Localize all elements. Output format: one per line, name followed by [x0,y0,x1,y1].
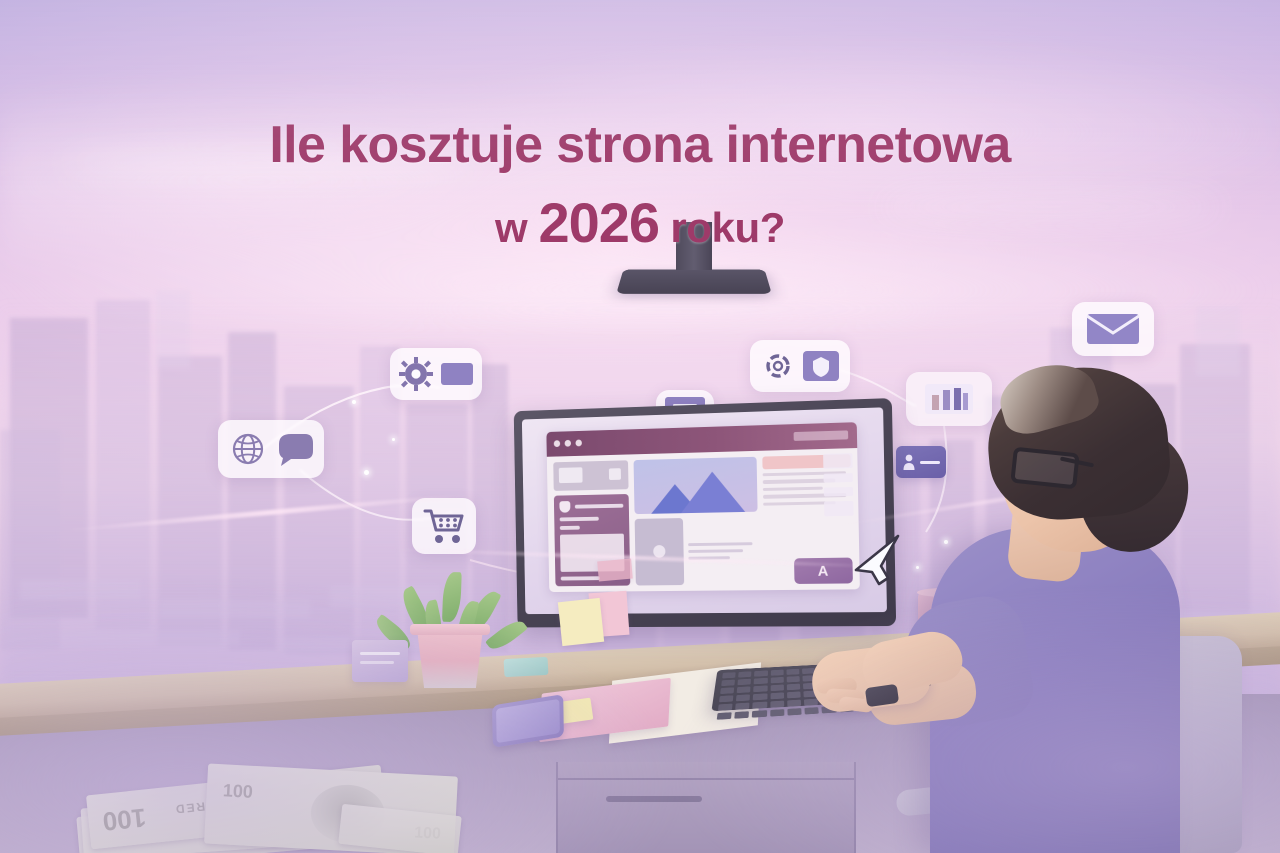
shopping-cart-icon[interactable] [412,498,476,554]
badge-icon [559,501,570,513]
key[interactable] [770,701,784,708]
video-thumbnail [635,518,685,586]
rail-block [824,500,853,515]
screen-icon [440,361,474,387]
rail-block [824,473,853,483]
chat-bubble-icon [275,430,315,468]
browser-window-mockup[interactable]: A [546,423,860,593]
cart-icon [423,507,465,545]
cta-button[interactable]: A [794,558,853,584]
key[interactable] [722,672,736,678]
right-rail [824,453,854,516]
drawer-handle[interactable] [606,796,702,802]
key[interactable] [771,670,784,676]
envelope-icon [1085,311,1141,347]
box-label-line [360,661,394,664]
mountain-shape [680,470,745,512]
key[interactable] [753,693,767,700]
bars-icon [921,382,977,416]
note-line [573,601,575,618]
text-line [560,525,580,529]
desk-box [352,640,408,682]
gear-screen-icon[interactable] [390,348,482,400]
text-line [689,549,743,553]
title-year: 2026 [539,191,660,254]
user-avatar-icon [902,452,916,472]
sticky-note-yellow [558,598,604,646]
mail-icon[interactable] [1072,302,1154,356]
key[interactable] [753,702,767,709]
globe-chat-icon[interactable] [218,420,324,478]
desktop-monitor[interactable]: A [514,398,896,627]
sticky-note-small [597,559,633,582]
key[interactable] [737,686,751,693]
plant-pot [414,628,486,688]
glasses-icon [1010,447,1079,490]
key[interactable] [770,709,784,716]
title-suffix: roku? [659,204,785,251]
note-line [583,600,585,617]
text-line [688,542,752,546]
content-column-center [634,456,759,586]
window-dot-minimize[interactable] [564,440,570,447]
title-line-2: w 2026 roku? [0,193,1280,253]
key[interactable] [787,691,801,698]
gear-icon [399,357,433,391]
sparkle [392,438,395,441]
desk-drawer[interactable] [556,762,856,853]
key[interactable] [721,680,735,686]
text-line [689,556,731,559]
monitor-base [616,269,772,293]
illustration-scene: Ile kosztuje strona internetowa w 2026 r… [0,0,1280,853]
text-line [560,516,600,521]
key[interactable] [735,711,750,719]
hero-image-placeholder [634,456,758,513]
profile-card-icon[interactable] [896,446,946,478]
key[interactable] [754,670,767,676]
media-placeholder [553,460,628,491]
plant-leaf [442,572,462,623]
key[interactable] [754,685,768,692]
key[interactable] [804,699,818,706]
mouse-cursor [848,524,904,586]
card-row [559,499,623,512]
desk-eraser [504,657,549,677]
sparkle [944,540,948,544]
sparkle [364,470,369,475]
image-thumb [559,467,583,483]
key[interactable] [787,700,801,707]
key[interactable] [770,685,783,692]
title-prefix: w [495,204,539,251]
globe-icon [228,429,268,469]
text-line [561,577,601,581]
phone-screen [496,699,560,743]
key[interactable] [752,710,767,717]
key[interactable] [738,671,751,677]
banknote-value: 100 [222,780,253,803]
gear-shield-icon[interactable] [750,340,850,392]
title-line-1: Ile kosztuje strona internetowa [0,118,1280,173]
banknote-stack: 100 ONE HUNDRED 100 100 [78,758,478,853]
drawer-seam [558,778,854,780]
monitor-screen[interactable]: A [522,407,887,614]
pot-rim [410,624,490,635]
play-circle-icon [653,545,665,558]
key[interactable] [804,707,819,714]
note-line [563,602,565,619]
icon-thumb [609,468,621,480]
key[interactable] [787,684,801,691]
key[interactable] [786,669,799,675]
browser-tab[interactable] [794,431,849,442]
profile-line [920,461,940,464]
gear-outline-icon [761,349,795,383]
key[interactable] [770,692,784,699]
key[interactable] [787,708,801,715]
text-line [763,486,823,491]
rail-block [824,487,853,497]
key[interactable] [717,712,732,720]
key[interactable] [736,694,750,701]
banknote-value: 100 [101,802,147,837]
browser-content: A [547,448,860,593]
key[interactable] [770,677,783,683]
sparkle [352,400,356,404]
sparkle [916,566,919,569]
bar-chart-icon[interactable] [906,372,992,426]
shield-icon [802,349,840,383]
window-dot-close[interactable] [554,441,560,448]
key[interactable] [720,687,734,694]
window-dot-maximize[interactable] [575,440,581,447]
key[interactable] [735,703,750,710]
text-block [688,516,759,585]
key[interactable] [754,678,767,684]
thumbnail-row [635,516,759,586]
text-line [575,503,624,508]
key[interactable] [787,676,800,682]
page-title: Ile kosztuje strona internetowa w 2026 r… [0,118,1280,253]
key[interactable] [738,679,752,685]
key[interactable] [719,695,734,702]
box-label-line [360,652,400,655]
rail-block [824,453,853,469]
key[interactable] [718,704,733,711]
